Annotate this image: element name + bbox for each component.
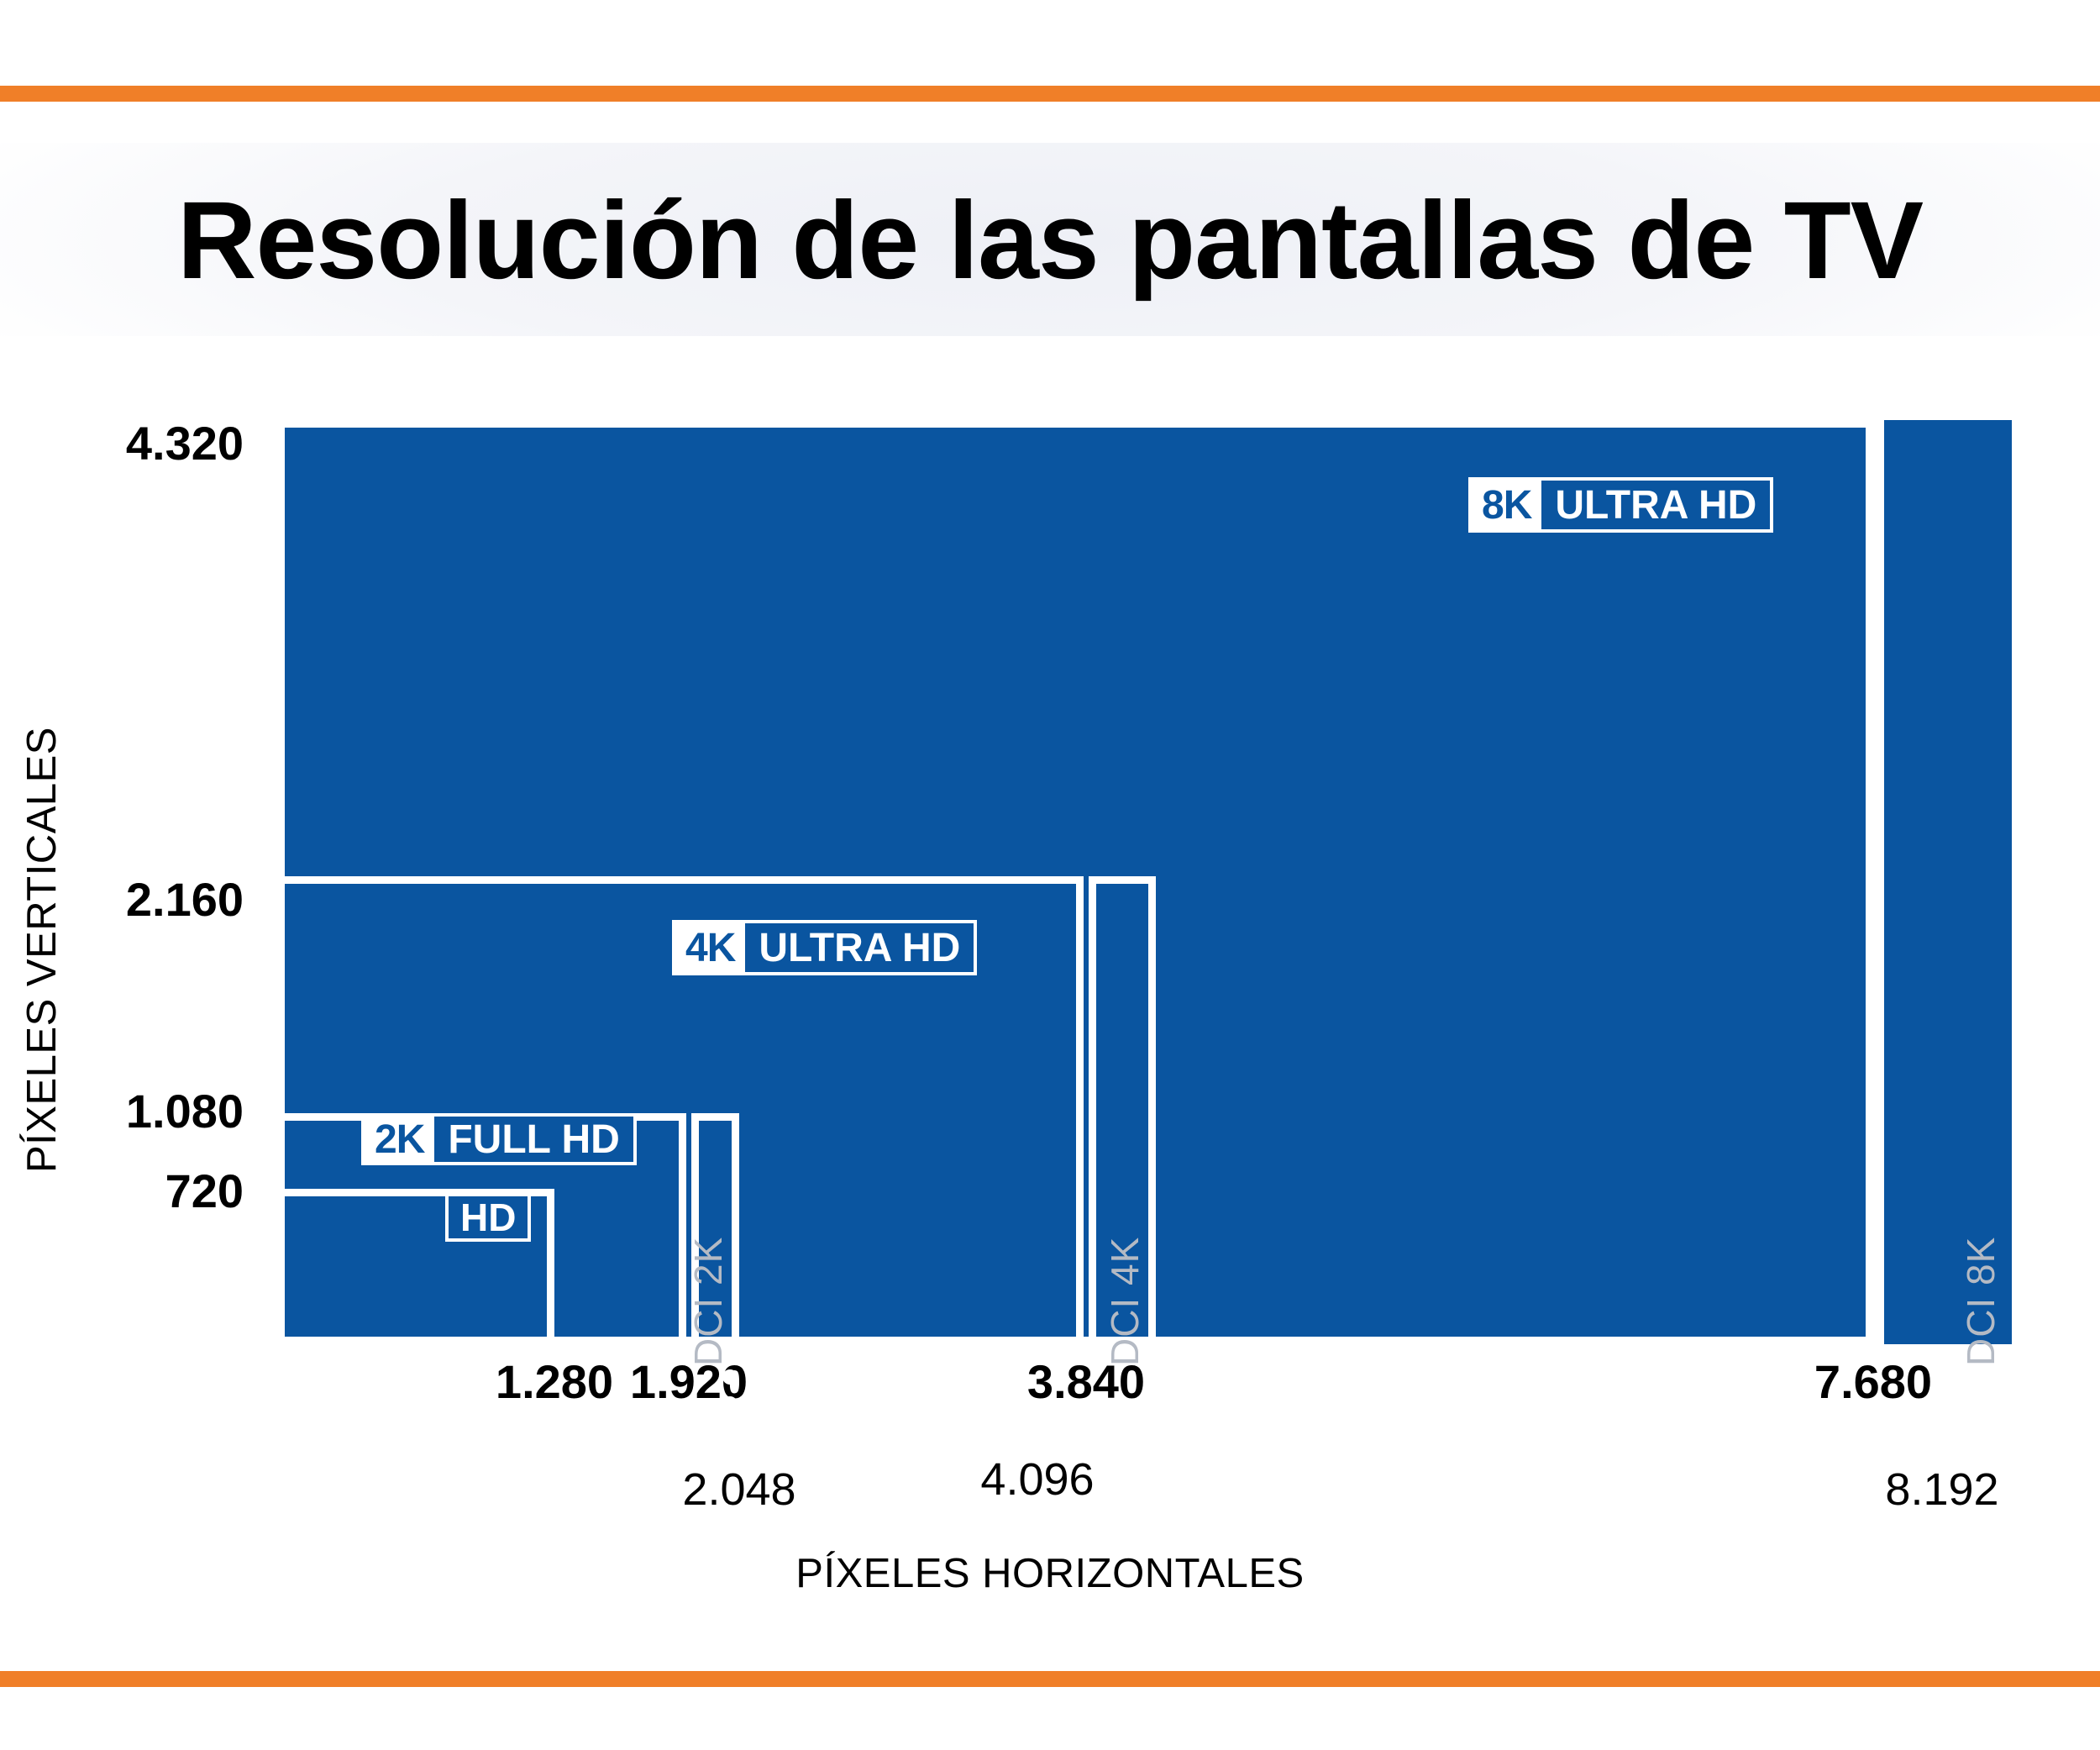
label-dci-4k: DCI 4K bbox=[1102, 1237, 1147, 1366]
y-axis-title: PÍXELES VERTICALES bbox=[18, 727, 66, 1173]
x-axis-title: PÍXELES HORIZONTALES bbox=[0, 1550, 2100, 1597]
xtick-8192: 8.192 bbox=[1808, 1464, 2076, 1516]
badge-4k-text: ULTRA HD bbox=[745, 923, 974, 972]
tick-dots-8192 bbox=[1998, 1369, 2013, 1438]
xtick-4096: 4.096 bbox=[903, 1453, 1172, 1506]
rect-dci-8k bbox=[1884, 420, 2012, 1344]
badge-4k-ultra-hd: 4K ULTRA HD bbox=[672, 920, 977, 975]
badge-hd: HD bbox=[445, 1193, 531, 1242]
xtick-7680: 7.680 bbox=[1739, 1354, 2008, 1409]
xtick-1920: 1.920 bbox=[554, 1354, 823, 1409]
title-banner: Resolución de las pantallas de TV bbox=[0, 143, 2100, 336]
page-title: Resolución de las pantallas de TV bbox=[177, 185, 1923, 295]
tick-dots-4096 bbox=[1147, 1369, 1163, 1438]
bottom-accent-rule bbox=[0, 1671, 2100, 1687]
xtick-2048: 2.048 bbox=[605, 1464, 874, 1516]
infographic-page: { "theme": { "orange": "#F07F28", "blue"… bbox=[0, 0, 2100, 1750]
badge-8k-ultra-hd: 8K ULTRA HD bbox=[1468, 477, 1773, 533]
ytick-1080: 1.080 bbox=[50, 1084, 244, 1138]
tick-dots-2048 bbox=[722, 1369, 738, 1438]
top-accent-rule bbox=[0, 86, 2100, 102]
ytick-720: 720 bbox=[50, 1164, 244, 1218]
badge-hd-text: HD bbox=[449, 1196, 528, 1238]
label-dci-2k: DCI 2K bbox=[685, 1237, 731, 1366]
badge-4k-prefix: 4K bbox=[675, 923, 745, 972]
badge-2k-text: FULL HD bbox=[434, 1117, 633, 1162]
badge-8k-prefix: 8K bbox=[1472, 481, 1541, 529]
xtick-3840: 3.840 bbox=[952, 1354, 1221, 1409]
label-dci-8k: DCI 8K bbox=[1958, 1237, 2003, 1366]
badge-2k-prefix: 2K bbox=[365, 1117, 434, 1162]
ytick-2160: 2.160 bbox=[50, 872, 244, 927]
badge-8k-text: ULTRA HD bbox=[1541, 481, 1770, 529]
ytick-4320: 4.320 bbox=[50, 416, 244, 470]
badge-2k-full-hd: 2K FULL HD bbox=[361, 1113, 637, 1165]
